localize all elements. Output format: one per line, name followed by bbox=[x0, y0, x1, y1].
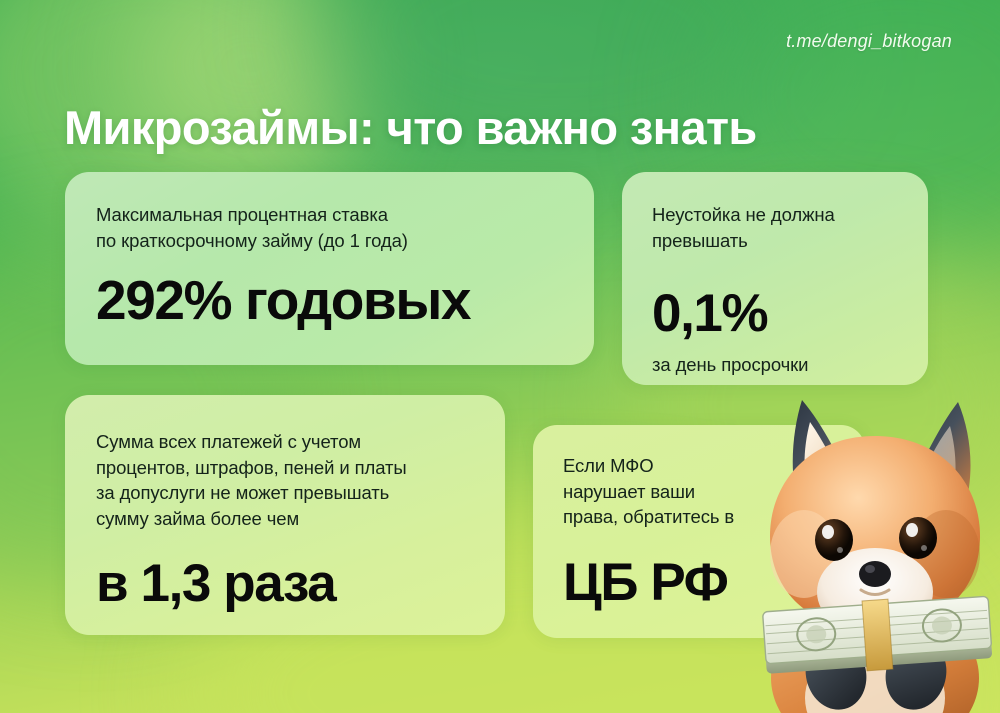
card-body-text: Максимальная процентная ставка по кратко… bbox=[96, 202, 594, 253]
card-body-line: Максимальная процентная ставка bbox=[96, 202, 594, 228]
card-body-line: Если МФО bbox=[563, 453, 865, 479]
card-body-line: процентов, штрафов, пеней и платы bbox=[96, 455, 505, 481]
card-stat-value: 292% годовых bbox=[96, 273, 594, 328]
card-penalty: Неустойка не должна превышать 0,1% за де… bbox=[622, 172, 928, 385]
card-content: Неустойка не должна превышать 0,1% за де… bbox=[652, 202, 928, 385]
card-body-line: сумму займа более чем bbox=[96, 506, 505, 532]
card-content: Максимальная процентная ставка по кратко… bbox=[96, 202, 594, 365]
channel-handle: t.me/dengi_bitkogan bbox=[786, 31, 952, 52]
card-complaint-authority: Если МФО нарушает ваши права, обратитесь… bbox=[533, 425, 865, 638]
card-content: Если МФО нарушает ваши права, обратитесь… bbox=[563, 453, 865, 638]
card-stat-value: ЦБ РФ bbox=[563, 556, 865, 609]
card-body-line: нарушает ваши bbox=[563, 479, 865, 505]
card-total-payments-cap: Сумма всех платежей с учетом процентов, … bbox=[65, 395, 505, 635]
card-body-line: по краткосрочному займу (до 1 года) bbox=[96, 228, 594, 254]
card-body-text: Сумма всех платежей с учетом процентов, … bbox=[96, 429, 505, 531]
card-body-line: превышать bbox=[652, 228, 928, 254]
card-body-text: Если МФО нарушает ваши права, обратитесь… bbox=[563, 453, 865, 530]
page-title: Микрозаймы: что важно знать bbox=[64, 103, 757, 152]
card-body-line: права, обратитесь в bbox=[563, 504, 865, 530]
card-note-text: за день просрочки bbox=[652, 353, 928, 377]
infographic-poster: t.me/dengi_bitkogan Микрозаймы: что важн… bbox=[0, 0, 1000, 713]
card-max-rate: Максимальная процентная ставка по кратко… bbox=[65, 172, 594, 365]
card-body-line: за допуслуги не может превышать bbox=[96, 480, 505, 506]
card-body-text: Неустойка не должна превышать bbox=[652, 202, 928, 253]
card-content: Сумма всех платежей с учетом процентов, … bbox=[96, 429, 505, 635]
card-body-line: Неустойка не должна bbox=[652, 202, 928, 228]
card-body-line: Сумма всех платежей с учетом bbox=[96, 429, 505, 455]
card-stat-value: 0,1% bbox=[652, 287, 928, 340]
card-stat-value: в 1,3 раза bbox=[96, 557, 505, 610]
